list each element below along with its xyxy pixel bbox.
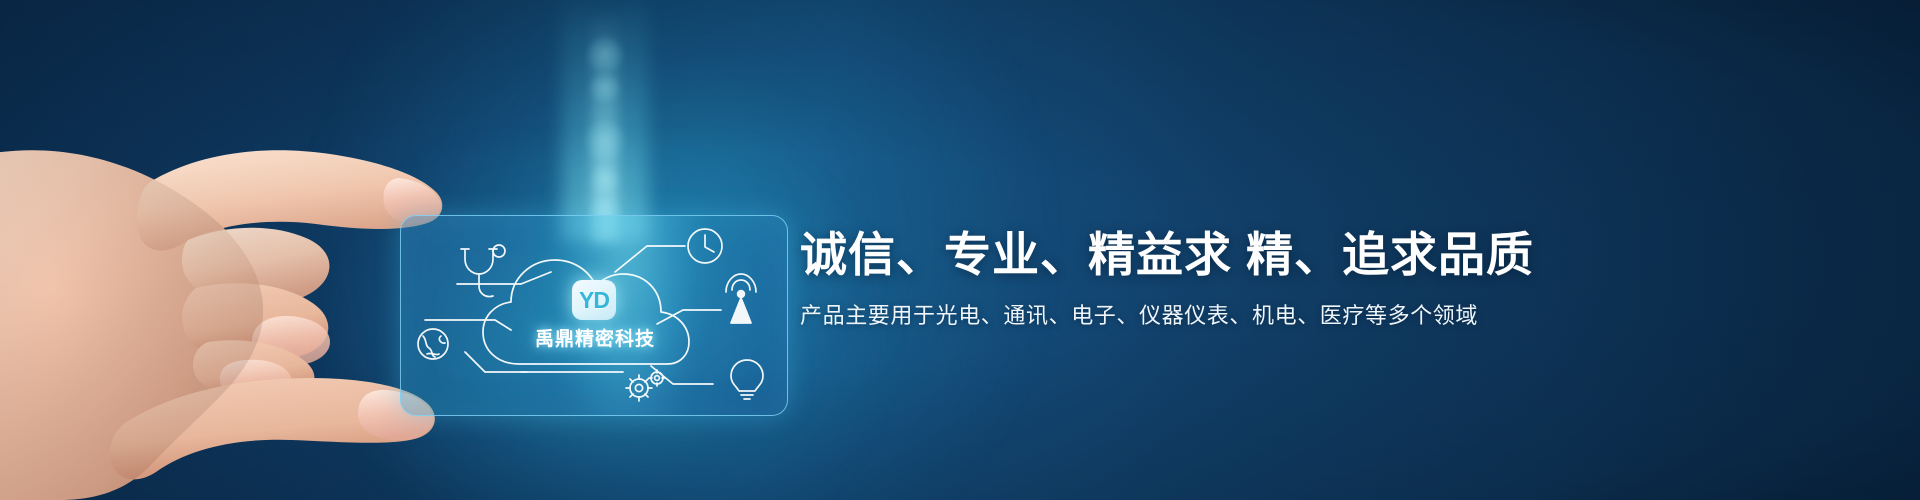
bokeh-dot xyxy=(590,164,620,194)
antenna-icon xyxy=(726,274,756,323)
clock-icon xyxy=(688,229,722,263)
connector-clock xyxy=(615,246,685,272)
brand-name: 禹鼎精密科技 xyxy=(497,324,693,351)
connector-lightbulb xyxy=(651,366,713,384)
globe-icon xyxy=(418,329,448,359)
banner-copy: 诚信、专业、精益求 精、追求品质 产品主要用于光电、通讯、电子、仪器仪表、机电、… xyxy=(800,228,1700,331)
connector-stethoscope xyxy=(457,272,551,284)
stethoscope-icon xyxy=(461,245,505,297)
yd-logo-text: YD xyxy=(579,287,609,314)
hero-banner: YD 禹鼎精密科技 诚信、专业、精益求 精、追求品质 产品主要用于光电、通讯、电… xyxy=(0,0,1920,500)
bokeh-dot xyxy=(589,72,621,104)
bokeh-dot xyxy=(584,120,626,162)
banner-subline: 产品主要用于光电、通讯、电子、仪器仪表、机电、医疗等多个领域 xyxy=(800,301,1700,332)
banner-headline: 诚信、专业、精益求 精、追求品质 xyxy=(800,228,1700,283)
connector-globe-lower xyxy=(465,352,527,372)
bokeh-dot xyxy=(586,36,624,74)
lightbulb-icon xyxy=(731,360,763,399)
glass-card[interactable]: YD 禹鼎精密科技 xyxy=(400,215,788,416)
yd-logo-badge: YD xyxy=(572,280,616,320)
gears-icon xyxy=(626,370,665,401)
connector-antenna xyxy=(657,310,721,324)
